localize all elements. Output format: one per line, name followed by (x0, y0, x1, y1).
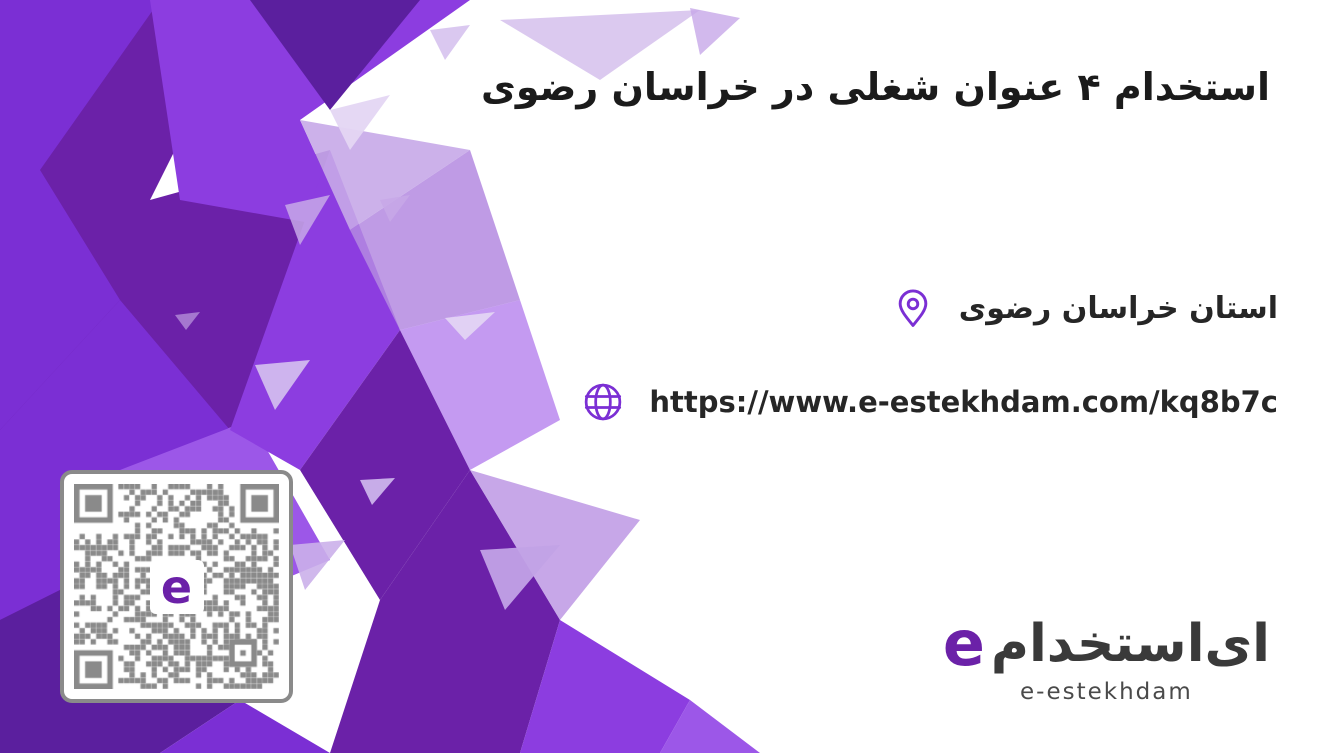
website-url[interactable]: https://www.e-estekhdam.com/kq8b7c (649, 385, 1278, 419)
qr-code-icon[interactable]: e (60, 470, 293, 703)
brand-name-fa: ای‌استخدام (991, 618, 1270, 670)
website-row[interactable]: https://www.e-estekhdam.com/kq8b7c (579, 378, 1278, 426)
qr-center-glyph: e (161, 564, 192, 610)
globe-icon (579, 378, 627, 426)
qr-center-logo: e (150, 560, 204, 614)
location-label: استان خراسان رضوی (959, 291, 1278, 326)
page-title: استخدام ۴ عنوان شغلی در خراسان رضوی (380, 58, 1270, 117)
location-row: استان خراسان رضوی (889, 284, 1278, 332)
brand-name-en: e-estekhdam (943, 679, 1270, 705)
brand-e-mark: e (943, 616, 985, 672)
brand-mark: ای‌استخدام e (943, 615, 1270, 673)
map-pin-icon (889, 284, 937, 332)
brand-logo: ای‌استخدام e e-estekhdam (943, 615, 1270, 705)
share-card: استخدام ۴ عنوان شغلی در خراسان رضوی استا… (0, 0, 1340, 753)
